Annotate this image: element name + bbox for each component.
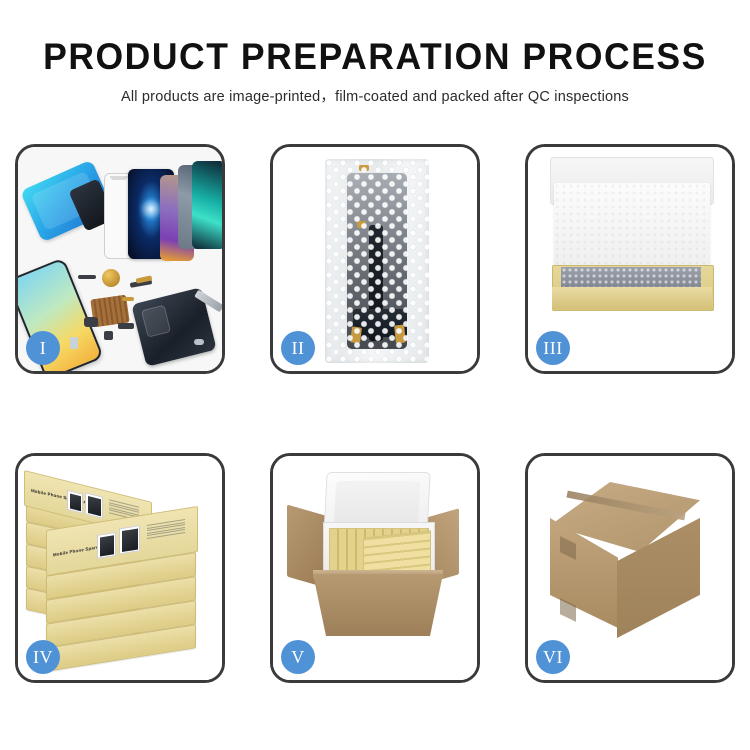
chip-icon	[78, 275, 96, 279]
bubble-texture	[325, 159, 429, 363]
page-title: PRODUCT PREPARATION PROCESS	[15, 36, 735, 78]
box-window-rear-2	[85, 492, 103, 518]
step-image-5: V	[273, 456, 477, 680]
camera-module-icon	[84, 317, 98, 327]
page-subtitle: All products are image-printed，film-coat…	[0, 88, 750, 106]
step-image-3: III	[528, 147, 732, 371]
box-stack: Mobile Phone Spare Parts Mobile Phone Sp…	[22, 472, 222, 662]
step-card-3[interactable]: III	[525, 144, 735, 374]
step-image-1: I	[18, 147, 222, 371]
speaker-coil-icon	[102, 269, 120, 287]
step-card-2[interactable]: II	[270, 144, 480, 374]
step-badge-6: VI	[536, 640, 570, 674]
step-card-1[interactable]: I	[15, 144, 225, 374]
step-badge-5: V	[281, 640, 315, 674]
kraft-box-front	[552, 287, 712, 309]
box-window-front-1	[97, 532, 116, 559]
gold-contact-icon	[122, 297, 134, 301]
step-image-6: VI	[528, 456, 732, 680]
flex-cable-icon	[118, 323, 134, 329]
sim-tray-icon	[70, 337, 78, 349]
step-badge-3: III	[536, 331, 570, 365]
bubble-bag	[325, 159, 429, 363]
step-badge-2: II	[281, 331, 315, 365]
box-window-rear-1	[67, 490, 83, 514]
step-card-4[interactable]: Mobile Phone Spare Parts Mobile Phone Sp…	[15, 453, 225, 683]
box-specs-front	[147, 519, 185, 541]
header: PRODUCT PREPARATION PROCESS All products…	[0, 36, 750, 106]
step-badge-1: I	[26, 331, 60, 365]
small-chip-icon	[104, 331, 113, 340]
step-badge-4: IV	[26, 640, 60, 674]
step-image-4: Mobile Phone Spare Parts Mobile Phone Sp…	[18, 456, 222, 680]
box-window-front-2	[119, 525, 140, 554]
carton-body	[313, 574, 443, 636]
screw-icon	[194, 339, 204, 345]
step-card-6[interactable]: VI	[525, 453, 735, 683]
product-preparation-infographic: PRODUCT PREPARATION PROCESS All products…	[0, 0, 750, 750]
white-foam-sheet	[554, 183, 710, 269]
teal-phone-icon	[192, 161, 222, 249]
step-card-5[interactable]: V	[270, 453, 480, 683]
step-image-2: II	[273, 147, 477, 371]
steps-grid: I II	[15, 144, 735, 676]
